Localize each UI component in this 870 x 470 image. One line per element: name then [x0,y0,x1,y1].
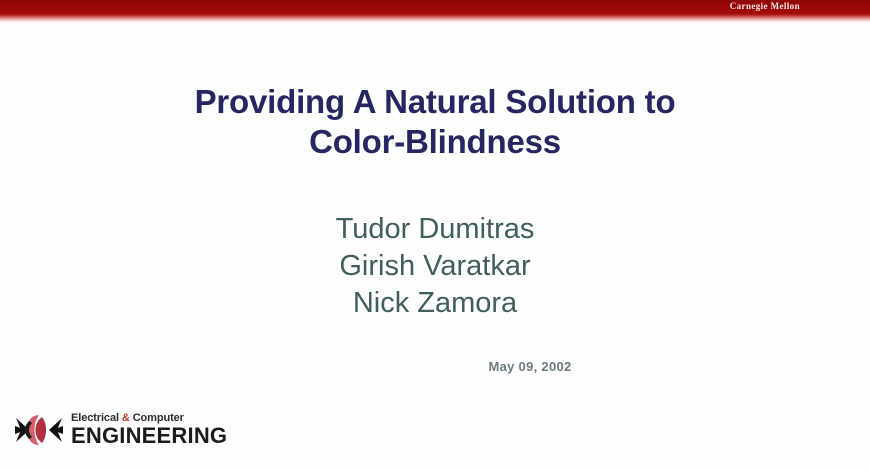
slide-title: Providing A Natural Solution to Color-Bl… [0,82,870,162]
author-name-3: Nick Zamora [0,285,870,322]
ece-emblem-icon [14,411,64,449]
ece-logo-text: Electrical & Computer ENGINEERING [71,413,227,447]
author-list: Tudor Dumitras Girish Varatkar Nick Zamo… [0,211,870,322]
presentation-date: May 09, 2002 [0,358,870,376]
date-text: May 09, 2002 [488,359,571,374]
presentation-slide: Carnegie Mellon Providing A Natural Solu… [0,0,870,470]
author-name-1: Tudor Dumitras [0,211,870,248]
ece-logo: Electrical & Computer ENGINEERING [14,411,227,449]
title-line-2: Color-Blindness [0,122,870,162]
institution-name: Carnegie Mellon [730,1,800,11]
author-name-2: Girish Varatkar [0,248,870,285]
title-line-1: Providing A Natural Solution to [0,82,870,122]
ece-logo-engineering: ENGINEERING [71,425,227,447]
carnegie-mellon-banner: Carnegie Mellon [0,0,870,24]
